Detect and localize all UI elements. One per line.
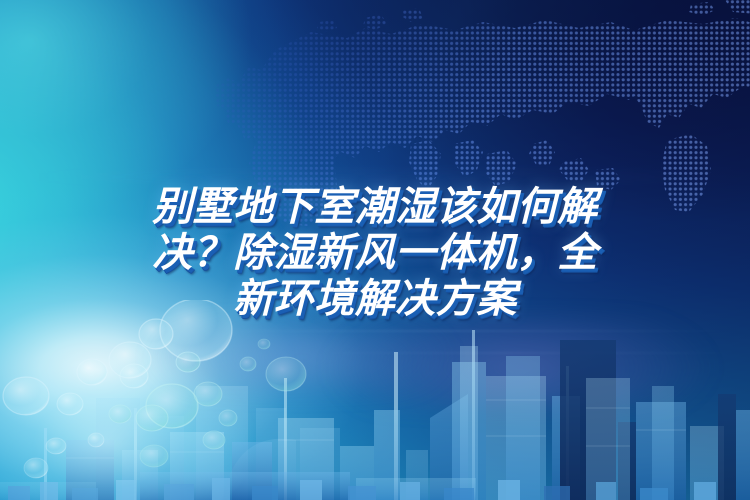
headline-line-3: 新环境解决方案 bbox=[104, 276, 646, 322]
headline-block: 别墅地下室潮湿该如何解 决？除湿新风一体机，全 新环境解决方案 bbox=[0, 184, 750, 322]
bubbles-graphic bbox=[0, 300, 420, 500]
promo-banner: 别墅地下室潮湿该如何解 决？除湿新风一体机，全 新环境解决方案 bbox=[0, 0, 750, 500]
headline-line-2: 决？除湿新风一体机，全 bbox=[104, 230, 646, 276]
headline-line-1: 别墅地下室潮湿该如何解 bbox=[104, 184, 646, 230]
light-streak-upper bbox=[0, 172, 750, 182]
